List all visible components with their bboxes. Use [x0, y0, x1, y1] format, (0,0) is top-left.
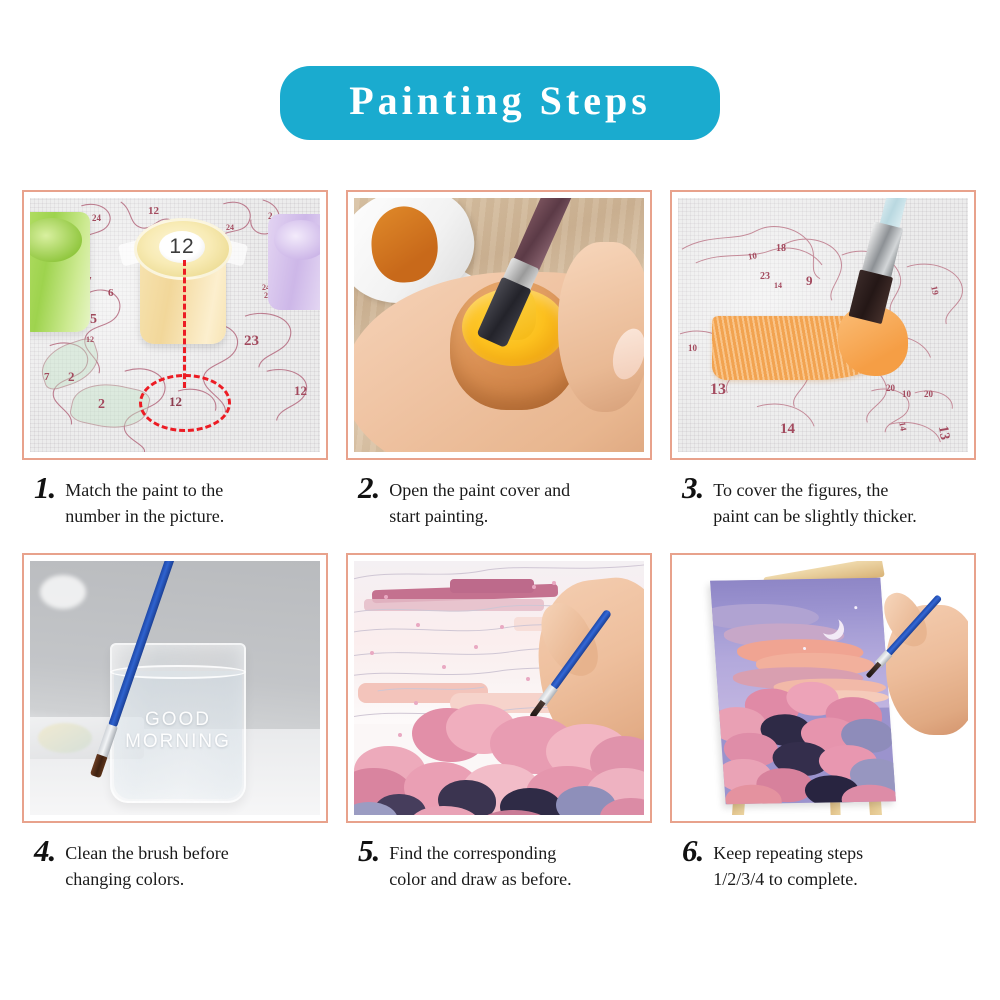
soap-blob: [38, 723, 92, 753]
fingernail: [607, 325, 644, 383]
step-number-3: 3.: [682, 474, 703, 502]
highlighted-region-number: 12: [169, 394, 182, 410]
red-dashed-guide-line: [183, 260, 186, 388]
canvas-number: 7: [44, 372, 50, 383]
canvas-number: 10: [902, 390, 911, 399]
canvas-dot: [370, 651, 374, 655]
step-card-3: 10 18 23 14 9 20 13 19 10 20 13 14 20 10…: [670, 190, 976, 529]
paint-pot-number-label: 12: [159, 231, 205, 263]
star: [854, 606, 857, 609]
canvas-number: 2: [68, 370, 75, 383]
canvas-number: 5: [90, 313, 97, 327]
step-2-photo: [354, 198, 644, 452]
step-card-1: 12 24 2 24 7 6 5 12 2 7 2 23 24 23 12: [22, 190, 328, 529]
canvas-number: 2: [98, 398, 105, 412]
canvas-number: 20: [886, 384, 895, 393]
canvas-number: 23: [760, 272, 770, 282]
title-banner: Painting Steps: [280, 66, 720, 140]
title-banner-wrapper: Painting Steps: [0, 66, 1000, 140]
painted-cherry-blossoms: [354, 702, 644, 815]
painted-cherry-blossoms: [713, 682, 896, 804]
page-title: Painting Steps: [332, 80, 668, 122]
step-number-2: 2.: [358, 474, 379, 502]
glass-text-line-1: GOOD: [112, 709, 244, 731]
photo-frame-1: 12 24 2 24 7 6 5 12 2 7 2 23 24 23 12: [22, 190, 328, 460]
step-caption-1: 1. Match the paint to the number in the …: [22, 474, 328, 529]
step-text-4: Clean the brush before changing colors.: [65, 837, 228, 892]
step-text-5: Find the corresponding color and draw as…: [389, 837, 571, 892]
step-caption-5: 5. Find the corresponding color and draw…: [346, 837, 652, 892]
step-text-1: Match the paint to the number in the pic…: [65, 474, 224, 529]
glass-printed-text: GOOD MORNING: [112, 709, 244, 753]
step-card-4: GOOD MORNING 4. Clean the brush before c…: [22, 553, 328, 892]
canvas-number: 20: [924, 390, 933, 399]
star: [803, 647, 806, 650]
canvas-number: 13: [710, 382, 726, 398]
step-1-photo: 12 24 2 24 7 6 5 12 2 7 2 23 24 23 12: [30, 198, 320, 452]
step-caption-3: 3. To cover the figures, the paint can b…: [670, 474, 976, 529]
canvas-dot: [416, 623, 420, 627]
canvas-number: 14: [897, 421, 907, 431]
step-number-5: 5.: [358, 837, 379, 865]
canvas-number: 19: [929, 285, 940, 296]
canvas-number: 10: [747, 251, 757, 261]
photo-frame-4: GOOD MORNING: [22, 553, 328, 823]
canvas-number: 9: [806, 274, 813, 287]
finger: [558, 242, 644, 412]
step-4-photo: GOOD MORNING: [30, 561, 320, 815]
lid-paint-residue: [369, 204, 440, 284]
brush-bristles: [849, 269, 894, 324]
photo-frame-5: [346, 553, 652, 823]
canvas-number: 12: [294, 384, 307, 397]
glass-text-line-2: MORNING: [112, 731, 244, 753]
canvas-dot: [442, 665, 446, 669]
steps-grid: 12 24 2 24 7 6 5 12 2 7 2 23 24 23 12: [22, 190, 982, 892]
step-caption-6: 6. Keep repeating steps 1/2/3/4 to compl…: [670, 837, 976, 892]
canvas-dot: [384, 595, 388, 599]
step-text-6: Keep repeating steps 1/2/3/4 to complete…: [713, 837, 863, 892]
step-number-6: 6.: [682, 837, 703, 865]
canvas-number: 23: [244, 334, 259, 349]
canvas-dot: [500, 625, 504, 629]
step-text-2: Open the paint cover and start painting.: [389, 474, 570, 529]
canvas-dot: [526, 677, 530, 681]
canvas-dot: [474, 645, 478, 649]
canvas-number: 18: [776, 244, 786, 254]
step-5-photo: [354, 561, 644, 815]
canvas-dot: [532, 585, 536, 589]
step-text-3: To cover the figures, the paint can be s…: [713, 474, 916, 529]
canvas-number: 6: [108, 288, 114, 299]
green-paint-pot: [30, 212, 90, 332]
background-object-blur: [40, 575, 86, 609]
step-caption-4: 4. Clean the brush before changing color…: [22, 837, 328, 892]
canvas-number: 10: [688, 344, 697, 353]
step-card-6: 6. Keep repeating steps 1/2/3/4 to compl…: [670, 553, 976, 892]
step-3-photo: 10 18 23 14 9 20 13 19 10 20 13 14 20 10…: [678, 198, 968, 452]
step-number-1: 1.: [34, 474, 55, 502]
step-number-4: 4.: [34, 837, 55, 865]
photo-frame-3: 10 18 23 14 9 20 13 19 10 20 13 14 20 10…: [670, 190, 976, 460]
photo-frame-6: [670, 553, 976, 823]
canvas-dot: [552, 581, 556, 585]
canvas-number: 24: [92, 214, 101, 223]
purple-paint-pot: [268, 214, 320, 310]
red-dashed-highlight-ellipse: [139, 374, 231, 432]
canvas-number: 14: [774, 282, 782, 290]
canvas-number: 13: [935, 425, 951, 441]
finished-painting-canvas: [710, 578, 896, 804]
photo-frame-2: [346, 190, 652, 460]
step-6-photo: [678, 561, 968, 815]
canvas-number: 14: [780, 422, 795, 437]
step-card-5: 5. Find the corresponding color and draw…: [346, 553, 652, 892]
step-caption-2: 2. Open the paint cover and start painti…: [346, 474, 652, 529]
canvas-number: 12: [86, 336, 94, 344]
step-card-2: 2. Open the paint cover and start painti…: [346, 190, 652, 529]
